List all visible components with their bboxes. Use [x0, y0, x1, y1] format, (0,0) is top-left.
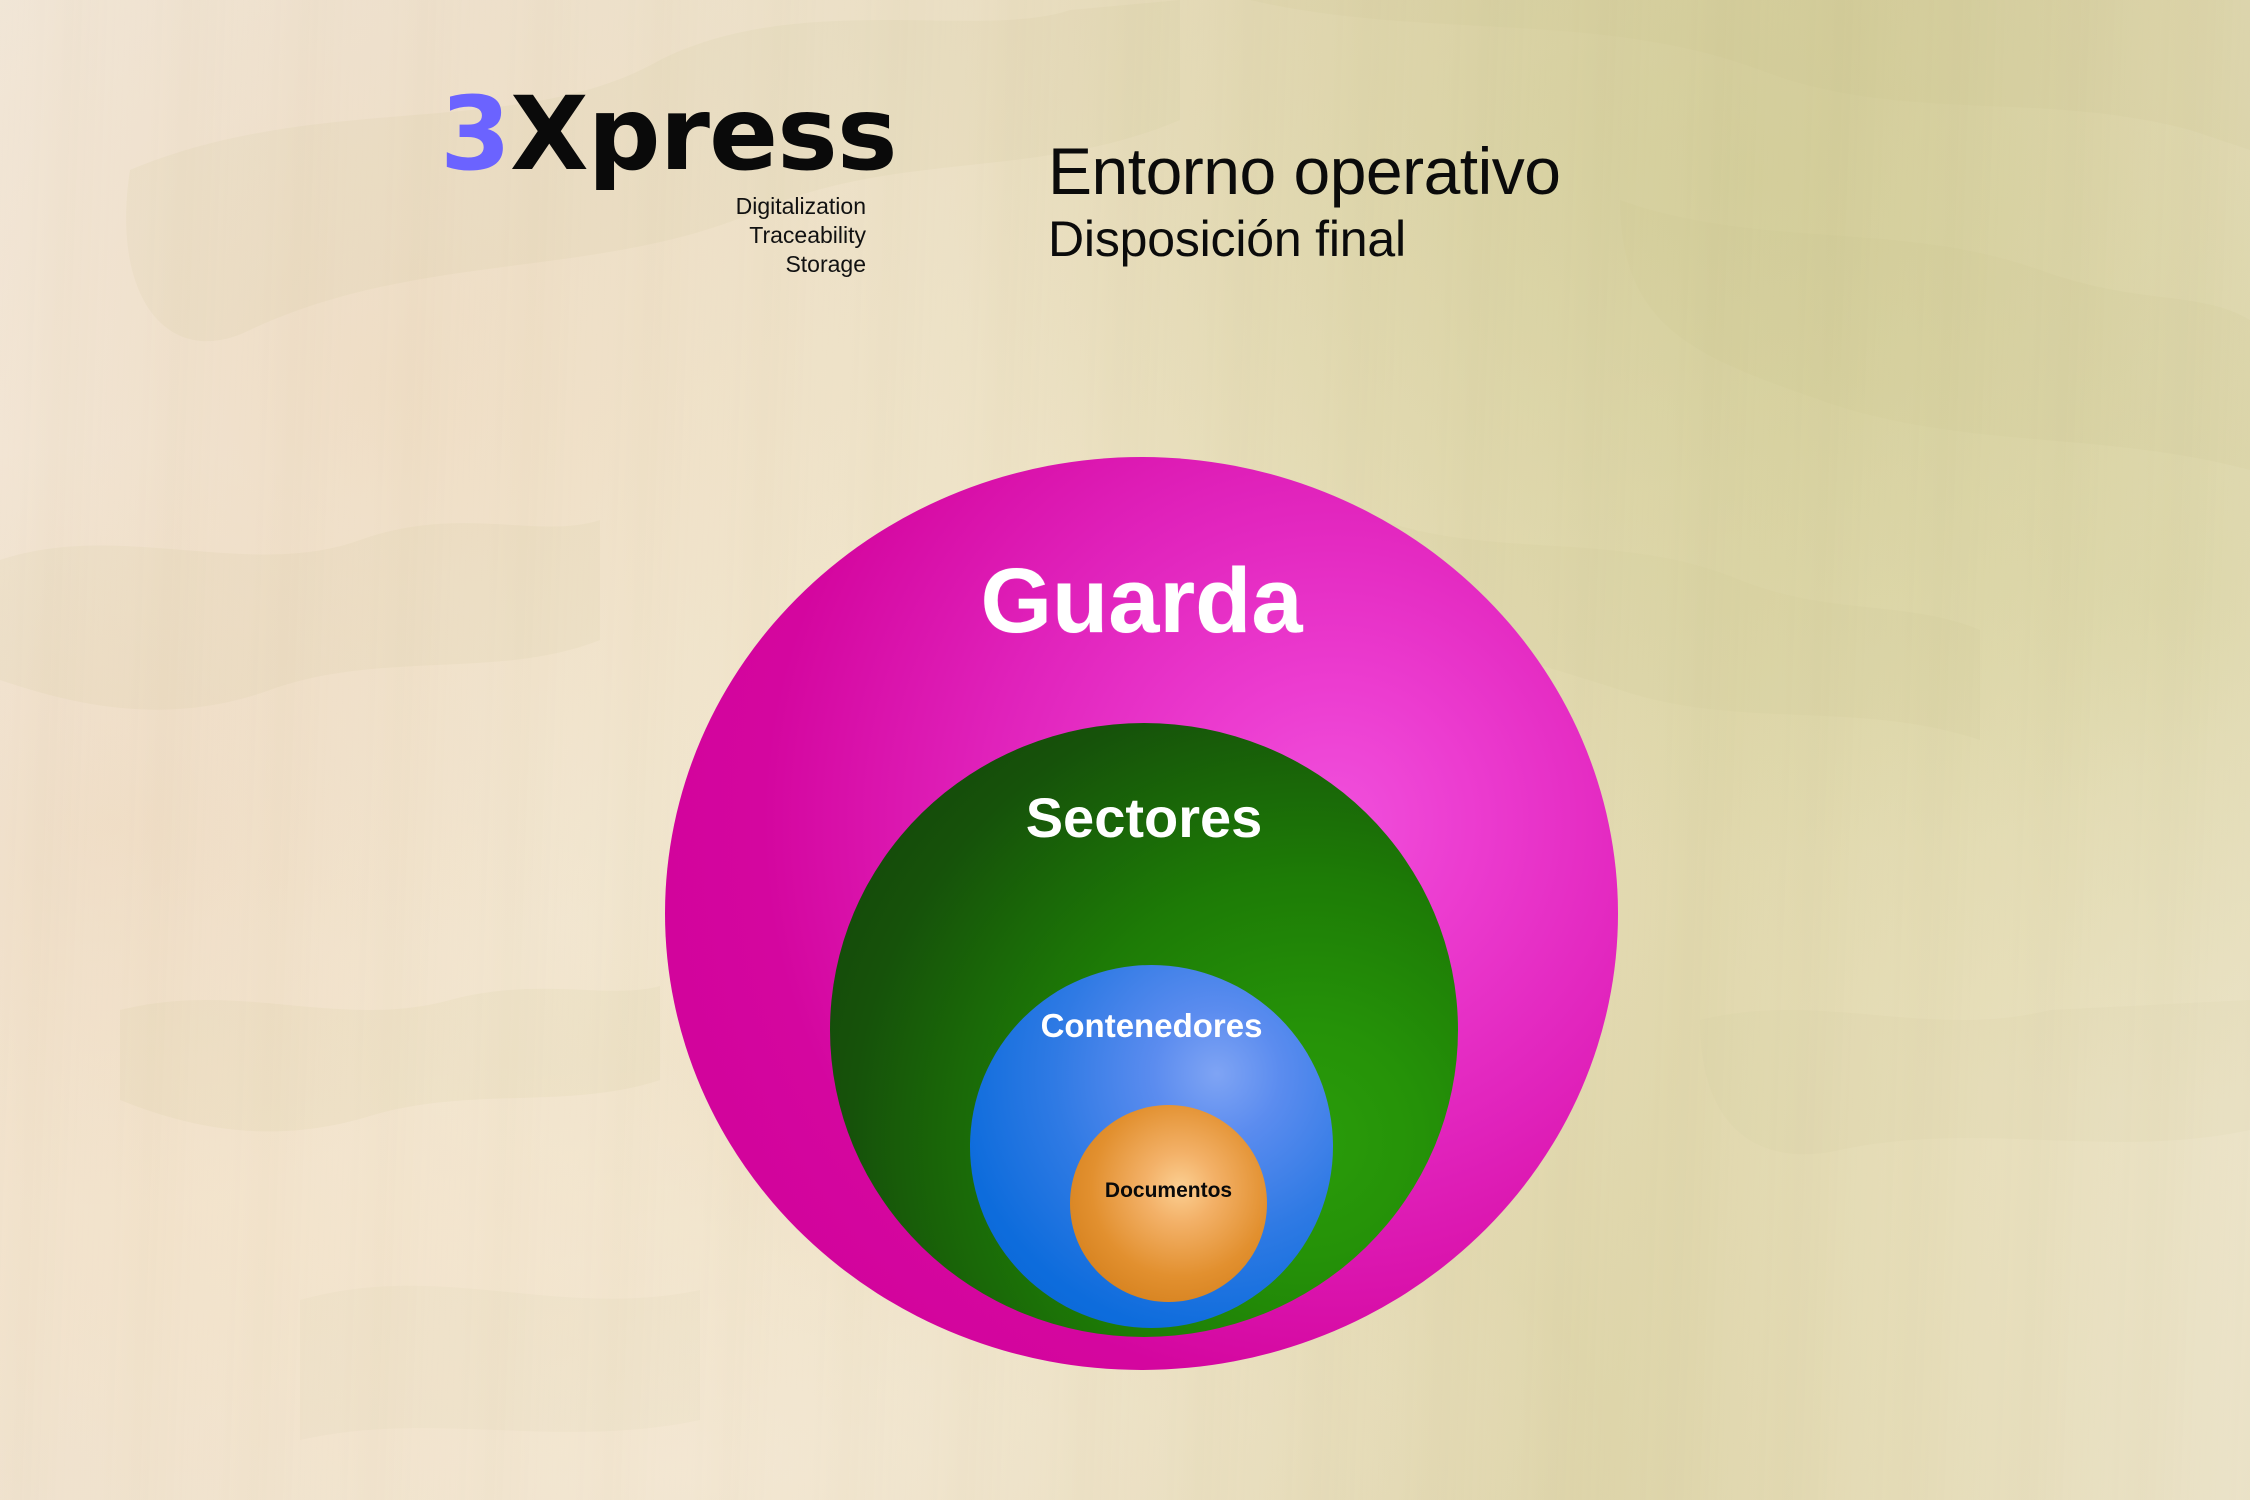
circle-documentos-label: Documentos — [1105, 1179, 1232, 1302]
circle-documentos[interactable]: Documentos — [1070, 1105, 1267, 1302]
nested-hierarchy-diagram: Guarda Sectores Contenedores Documentos — [0, 0, 2250, 1500]
